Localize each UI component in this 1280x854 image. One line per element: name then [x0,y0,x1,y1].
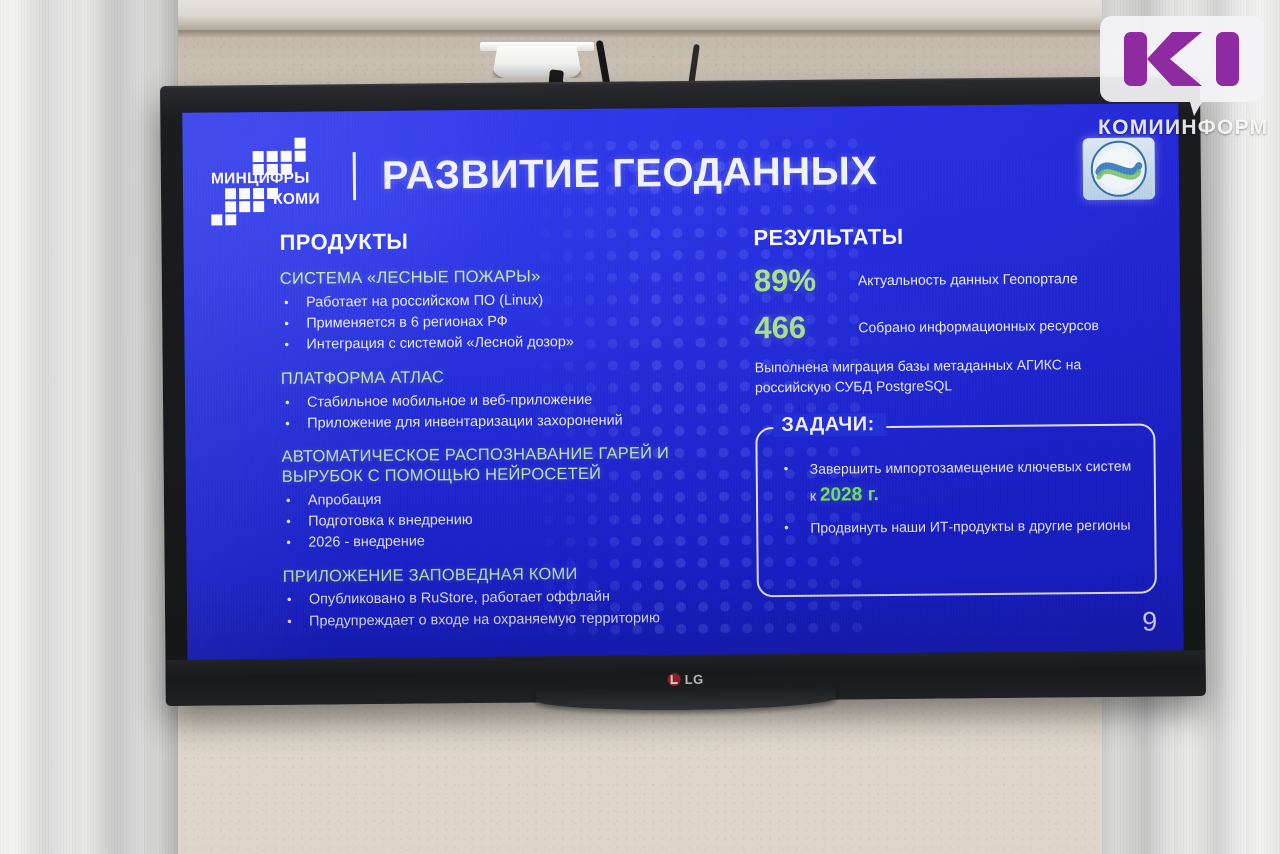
task-item: • Продвинуть наши ИТ-продукты в другие р… [778,515,1134,540]
stat-value: 466 [754,311,842,344]
stat-value: 89% [754,264,842,297]
geoportal-emblem [1083,137,1156,200]
window-blinds-left [0,0,178,854]
product-group: ПЛАТФОРМА АТЛАС • Стабильное мобильное и… [281,365,722,435]
header-divider [353,152,356,200]
task-item: • Завершить импортозамещение ключевых си… [778,456,1134,511]
product-group-title: СИСТЕМА «ЛЕСНЫЕ ПОЖАРЫ» [280,266,720,290]
results-heading: РЕЗУЛЬТАТЫ [753,221,1153,251]
slide-page-number: 9 [1142,606,1157,637]
task-text: Завершить импортозамещение ключевых сист… [810,456,1134,510]
bullet-icon: • [280,292,306,312]
product-group: АВТОМАТИЧЕСКОЕ РАСПОЗНАВАНИЕ ГАРЕЙ И ВЫР… [281,444,722,555]
products-groups: СИСТЕМА «ЛЕСНЫЕ ПОЖАРЫ» • Работает на ро… [280,266,723,633]
bullet-text: Приложение для инвентаризации захоронени… [307,409,721,434]
bullet-icon: • [283,611,309,631]
presentation-slide: МИНЦИФРЫ КОМИ РАЗВИТИЕ ГЕОДАННЫХ [182,103,1183,661]
bullet-icon: • [282,490,308,510]
products-column: ПРОДУКТЫ СИСТЕМА «ЛЕСНЫЕ ПОЖАРЫ» • Работ… [279,226,723,646]
bullet-icon: • [282,533,308,553]
bullet-icon: • [280,314,306,334]
bullet-icon: • [280,335,306,355]
products-heading: ПРОДУКТЫ [279,226,719,256]
stat-label: Собрано информационных ресурсов [858,309,1099,337]
bullet-item: • Предупреждает о входе на охраняемую те… [283,607,723,633]
ceiling-mount-device [492,46,582,78]
room-photo: МИНЦИФРЫ КОМИ РАЗВИТИЕ ГЕОДАННЫХ [0,0,1280,854]
product-group-title: АВТОМАТИЧЕСКОЕ РАСПОЗНАВАНИЕ ГАРЕЙ И ВЫР… [281,444,721,488]
bullet-text: 2026 - внедрение [308,529,722,554]
lg-brand-text: LG [685,672,704,687]
bullet-icon: • [282,512,308,532]
ceiling [175,0,1105,34]
bullet-icon: • [283,590,309,610]
komiinform-watermark: КОМИИНФОРМ [1098,12,1266,130]
tasks-box: ЗАДАЧИ: • Завершить импортозамещение клю… [755,424,1157,598]
tasks-title: ЗАДАЧИ: [773,413,887,437]
migration-note: Выполнена миграция базы метаданных АГИКС… [755,355,1155,398]
bullet-item: • 2026 - внедрение [282,529,722,555]
bullet-item: • Интеграция с системой «Лесной дозор» [280,331,720,357]
watermark-caption: КОМИИНФОРМ [1098,116,1280,140]
slide-header: МИНЦИФРЫ КОМИ РАЗВИТИЕ ГЕОДАННЫХ [211,131,1156,214]
bullet-icon: • [778,518,810,538]
logo-line-2: КОМИ [273,190,320,208]
slide-title: РАЗВИТИЕ ГЕОДАННЫХ [382,151,878,196]
product-group: ПРИЛОЖЕНИЕ ЗАПОВЕДНАЯ КОМИ • Опубликован… [283,563,724,633]
speech-bubble-icon [1098,12,1266,118]
product-group-title: ПЛАТФОРМА АТЛАС [281,365,721,389]
stat-label: Актуальность данных Геопортале [858,262,1078,290]
stat-item: 466 Собрано информационных ресурсов [754,308,1154,344]
mincifry-komi-logo: МИНЦИФРЫ КОМИ [211,137,340,216]
bullet-icon: • [778,459,810,479]
bullet-text: Интеграция с системой «Лесной дозор» [306,331,720,356]
bullet-icon: • [281,392,307,412]
task-highlight: 2028 г. [820,484,879,506]
product-group: СИСТЕМА «ЛЕСНЫЕ ПОЖАРЫ» • Работает на ро… [280,266,721,357]
bullet-icon: • [281,413,307,433]
results-column: РЕЗУЛЬТАТЫ 89% Актуальность данных Геопо… [753,221,1157,597]
television: МИНЦИФРЫ КОМИ РАЗВИТИЕ ГЕОДАННЫХ [160,76,1206,706]
bullet-item: • Приложение для инвентаризации захороне… [281,409,721,435]
logo-line-1: МИНЦИФРЫ [211,170,310,189]
product-group-title: ПРИЛОЖЕНИЕ ЗАПОВЕДНАЯ КОМИ [283,563,723,587]
tv-screen: МИНЦИФРЫ КОМИ РАЗВИТИЕ ГЕОДАННЫХ [182,103,1183,661]
task-text: Продвинуть наши ИТ-продукты в другие рег… [810,515,1134,540]
stat-item: 89% Актуальность данных Геопортале [754,261,1154,297]
bullet-text: Предупреждает о входе на охраняемую терр… [309,607,723,632]
lg-brand-logo: LG [668,672,704,687]
ceiling-edge [175,30,1105,37]
lg-mark-icon [668,673,681,686]
